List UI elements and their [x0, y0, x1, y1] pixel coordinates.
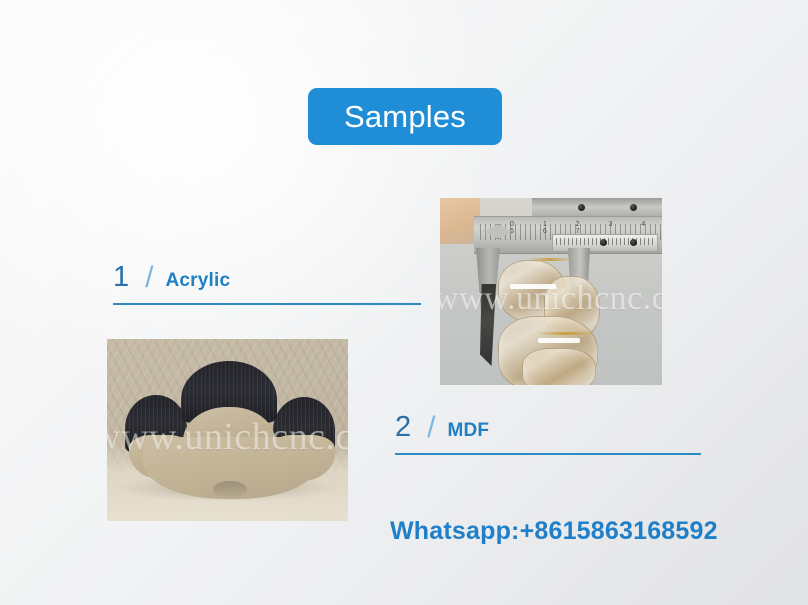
- caliper-screw-icon: [630, 204, 637, 211]
- caption-underline: [113, 303, 421, 305]
- caption-row: 2 / MDF: [395, 412, 701, 442]
- caliper-upper-bar: [532, 198, 662, 218]
- acrylic-edge-highlight: [536, 332, 596, 335]
- caliper-screw-icon: [578, 204, 585, 211]
- caliper-scale-digits: 0 1 2 3 4 5 6 7: [510, 221, 662, 233]
- caliper-screw-icon: [600, 239, 607, 246]
- page-title: Samples: [344, 101, 466, 132]
- sample-label-mdf: MDF: [447, 421, 489, 440]
- caliper-screw-icon: [630, 239, 637, 246]
- acrylic-sample-photo: 0 1 2 3 4 5 6 7 www.unichcnc.co: [440, 198, 662, 385]
- samples-poster: Samples 0 1 2 3 4 5 6 7 www.unichcnc.co …: [0, 0, 808, 605]
- acrylic-specular-streak: [510, 284, 556, 289]
- sample-separator-slash: /: [427, 413, 435, 443]
- caption-underline: [395, 453, 701, 455]
- sample-number: 2: [395, 413, 411, 442]
- page-title-pill: Samples: [308, 88, 502, 145]
- sample-caption-acrylic: 1 / Acrylic: [113, 262, 421, 305]
- caption-row: 1 / Acrylic: [113, 262, 421, 292]
- mdf-bottom-notch: [213, 481, 247, 497]
- sample-separator-slash: /: [145, 263, 153, 293]
- sample-label-acrylic: Acrylic: [165, 271, 230, 290]
- sample-number: 1: [113, 263, 129, 292]
- sample-caption-mdf: 2 / MDF: [395, 412, 701, 455]
- acrylic-piece-lobe: [522, 348, 596, 385]
- whatsapp-contact-text: Whatsapp:+8615863168592: [390, 517, 718, 546]
- acrylic-edge-highlight: [528, 258, 572, 261]
- mdf-sample-photo: www.unichcnc.c: [107, 339, 348, 521]
- acrylic-specular-streak: [538, 338, 580, 343]
